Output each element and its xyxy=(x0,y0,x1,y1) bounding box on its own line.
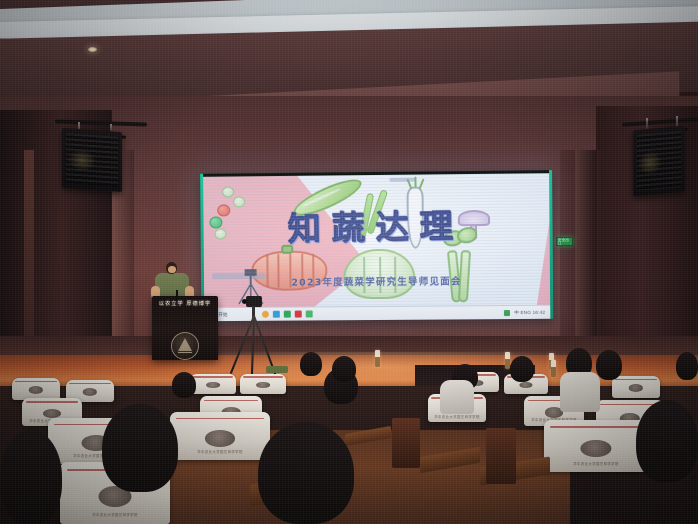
presenter-face xyxy=(168,266,176,273)
microphone-stand xyxy=(176,290,178,300)
pdf-icon xyxy=(294,311,301,318)
seat-crest-icon xyxy=(206,382,220,389)
audience-member-head xyxy=(300,352,322,376)
water-bottle xyxy=(551,360,556,377)
audience-member-head xyxy=(258,422,354,524)
seat-crest-icon xyxy=(519,382,532,389)
notes-icon xyxy=(283,311,290,318)
seat-label: 华中农业大学园艺林学学院 xyxy=(428,414,486,419)
wps-icon xyxy=(305,310,312,317)
speaker-highlight xyxy=(68,149,96,173)
audience-member-head xyxy=(510,356,534,382)
lectern-nameplate-text: 以农立学 厚德博学 xyxy=(159,300,211,307)
seat-label: 华中农业大学园艺林学学院 xyxy=(170,449,270,454)
taskbar-clock: 中 ENG 16:42 xyxy=(514,309,545,315)
slide-title: 知蔬达理 xyxy=(203,197,550,252)
tripod-leg xyxy=(251,316,255,378)
seat xyxy=(190,374,236,394)
seat-back-frame xyxy=(392,418,420,468)
seat-crest-icon xyxy=(29,386,43,393)
seat-crest-icon xyxy=(629,384,643,391)
seat xyxy=(612,376,660,398)
exit-sign-label: 安全出口 xyxy=(558,238,572,245)
seat: 华中农业大学园艺林学学院 xyxy=(170,412,270,460)
taskbar-tray: 中 ENG 16:42 xyxy=(504,309,550,315)
audience-member-head xyxy=(0,430,62,524)
seat-back-frame xyxy=(486,428,516,484)
audience-member-head xyxy=(636,400,698,482)
seat-label: 华中农业大学园艺林学学院 xyxy=(544,461,648,466)
downlight xyxy=(88,47,97,52)
stage-equipment-case xyxy=(266,366,288,373)
seat xyxy=(12,378,60,400)
radish-leaf xyxy=(419,179,425,190)
speaker-highlight xyxy=(638,150,662,176)
water-bottle xyxy=(375,350,380,367)
seat-crest-icon xyxy=(83,388,97,395)
audience-member-head xyxy=(596,350,622,380)
seat: 华中农业大学园艺林学学院 xyxy=(544,420,648,472)
audience-member-shirt xyxy=(440,380,474,414)
slide-top-chrome xyxy=(389,178,415,182)
university-crest-icon xyxy=(171,332,199,360)
exit-sign: 安全出口 xyxy=(556,237,573,246)
seat-crest-icon xyxy=(580,440,611,458)
network-icon xyxy=(504,310,510,316)
right-line-array-speaker xyxy=(633,126,685,197)
audience-member-shirt xyxy=(560,372,600,412)
seat-crest-icon xyxy=(256,382,270,389)
seat-crest-icon xyxy=(205,430,235,446)
seat-label: 华中农业大学园艺林学学院 xyxy=(60,512,170,517)
audience-member-head xyxy=(102,404,178,492)
audience-member-head xyxy=(172,372,196,398)
audience-member-head xyxy=(676,352,698,380)
presentation-slide: 知蔬达理 2023年度蔬菜学研究生导师见面会 xyxy=(203,173,550,307)
seat xyxy=(240,374,286,394)
left-line-array-speaker xyxy=(62,128,122,192)
lectern-nameplate: 以农立学 厚德博学 xyxy=(160,298,210,308)
auditorium-photo: 安全出口 xyxy=(0,0,698,524)
lectern: 以农立学 厚德博学 xyxy=(152,296,218,360)
cabbage-illustration xyxy=(222,186,234,197)
taskbar-start-label: 开始 xyxy=(218,312,228,318)
audience-member-head xyxy=(332,356,356,382)
